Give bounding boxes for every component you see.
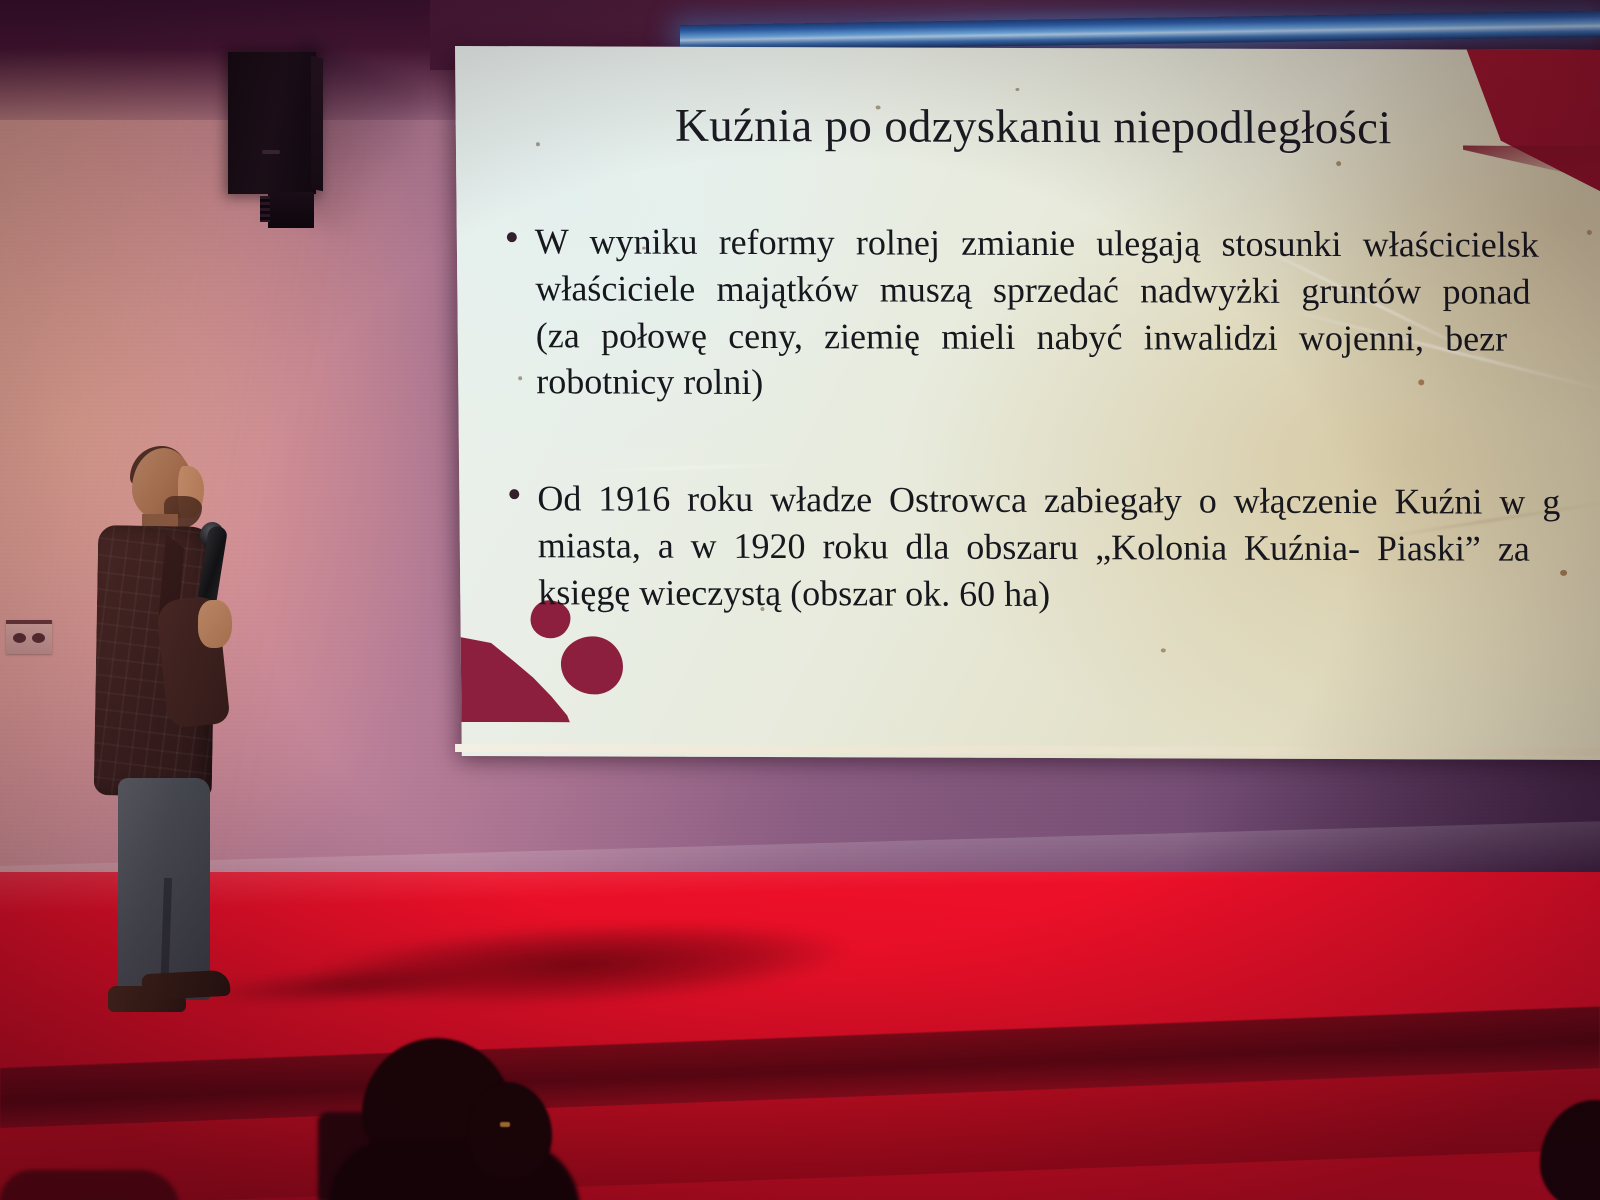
slide-body: W wyniku reformy rolnej zmianie ulegają …: [501, 218, 1600, 690]
presenter: [90, 448, 280, 1008]
wall-speaker-bracket: [268, 192, 314, 228]
slide-parchment: Kuźnia po odzyskaniu niepodległości W wy…: [455, 46, 1600, 760]
bullet-line: W wyniku reformy rolnej zmianie ulegają …: [535, 218, 1600, 269]
bullet-line: Od 1916 roku władze Ostrowca zabiegały o…: [537, 475, 1600, 526]
slide-corner-ribbon-shade: [1463, 146, 1600, 217]
outlet-socket-left: [13, 633, 26, 643]
bullet-line: miasta, a w 1920 roku dla obszaru „Kolon…: [538, 522, 1600, 573]
outlet-socket-right: [32, 633, 45, 643]
slide-bullet: Od 1916 roku władze Ostrowca zabiegały o…: [503, 475, 1600, 620]
presenter-hand: [198, 600, 232, 648]
bullet-line: księgę wieczystą (obszar ok. 60 ha): [538, 569, 1600, 620]
bullet-line: robotnicy rolni): [536, 359, 1600, 410]
parchment-speck: [1015, 88, 1019, 91]
bullet-dot-icon: [507, 232, 517, 242]
bullet-line: (za połowę ceny, ziemię mieli nabyć inwa…: [536, 312, 1600, 363]
wall-speaker-side-panel: [311, 56, 323, 192]
photo-frame: Kuźnia po odzyskaniu niepodległości W wy…: [0, 0, 1600, 1200]
wall-speaker-icon: [228, 52, 316, 194]
presenter-shoe-front: [141, 970, 230, 1001]
audience-shoulders: [0, 1170, 180, 1200]
parchment-speck: [1336, 161, 1341, 166]
power-outlet-icon: [6, 620, 52, 654]
slide-title: Kuźnia po odzyskaniu niepodległości: [455, 98, 1600, 156]
bullet-dot-icon: [509, 489, 519, 499]
projection-screen: Kuźnia po odzyskaniu niepodległości W wy…: [455, 46, 1600, 760]
wall-speaker-logo: [262, 150, 280, 154]
audience-glint: [500, 1122, 510, 1127]
slide-bullet: W wyniku reformy rolnej zmianie ulegają …: [501, 218, 1600, 410]
bullet-line: właściciele majątków muszą sprzedać nadw…: [535, 265, 1600, 316]
